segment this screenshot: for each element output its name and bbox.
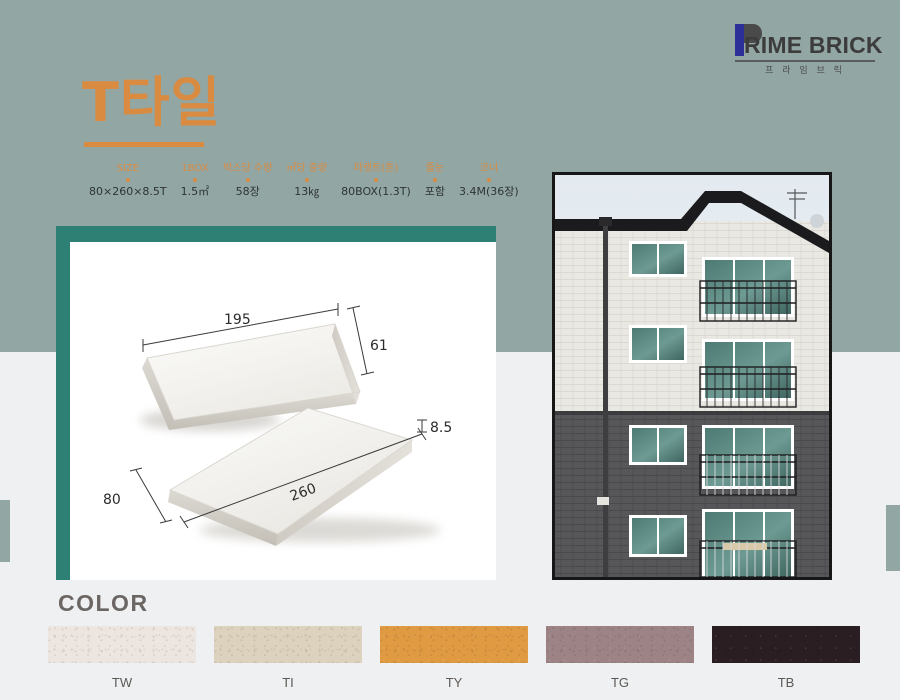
spec-label: ㎡당 중량 xyxy=(286,163,327,175)
spec-strip: SIZE80×260×8.5T1BOX1.5㎡박스당 수량58장㎡당 중량13㎏… xyxy=(82,163,526,198)
logo-mark: RIME BRICK xyxy=(735,22,875,56)
color-swatch-label: TB xyxy=(778,675,795,690)
spec-item: 파렛트(톤)80BOX(1.3T) xyxy=(334,163,418,198)
spec-bullet-icon xyxy=(487,178,491,182)
spec-value: 1.5㎡ xyxy=(181,185,210,198)
brochure-page: RIME BRICK 프 라 임 브 릭 T타일 SIZE80×260×8.5T… xyxy=(0,0,900,700)
color-swatch[interactable]: TY xyxy=(380,626,528,690)
logo-blue-bar-icon xyxy=(735,24,744,56)
color-swatch-chip[interactable] xyxy=(48,626,196,663)
spec-value: 80BOX(1.3T) xyxy=(341,185,411,198)
spec-item: 1BOX1.5㎡ xyxy=(174,163,217,198)
brand-logo: RIME BRICK 프 라 임 브 릭 xyxy=(735,22,875,74)
dim-label-80: 80 xyxy=(103,492,121,508)
dim-label-195: 195 xyxy=(224,312,251,328)
spec-bullet-icon xyxy=(374,178,378,182)
color-swatch[interactable]: TG xyxy=(546,626,694,690)
product-panel: 195 61 8.5 260 80 xyxy=(56,226,496,580)
product-image-area: 195 61 8.5 260 80 xyxy=(70,242,496,580)
color-swatch-chip[interactable] xyxy=(712,626,860,663)
color-swatch-chip[interactable] xyxy=(214,626,362,663)
spec-bullet-icon xyxy=(433,178,437,182)
spec-label: 파렛트(톤) xyxy=(354,163,399,175)
color-swatch[interactable]: TI xyxy=(214,626,362,690)
right-edge-tab xyxy=(886,505,900,571)
spec-bullet-icon xyxy=(305,178,309,182)
logo-underline xyxy=(735,60,875,62)
spec-item: 박스당 수량58장 xyxy=(216,163,279,198)
dim-label-61: 61 xyxy=(370,338,388,354)
brand-wordmark: RIME BRICK xyxy=(744,34,883,57)
dim-label-8_5: 8.5 xyxy=(430,420,452,436)
spec-item: ㎡당 중량13㎏ xyxy=(279,163,334,198)
left-edge-tab xyxy=(0,500,10,562)
application-photo xyxy=(552,172,832,580)
color-swatch-label: TW xyxy=(112,675,132,690)
spec-label: SIZE xyxy=(117,163,139,175)
spec-bullet-icon xyxy=(193,178,197,182)
brand-subtitle: 프 라 임 브 릭 xyxy=(735,63,875,76)
spec-bullet-icon xyxy=(126,178,130,182)
color-swatch[interactable]: TB xyxy=(712,626,860,690)
spec-label: 1BOX xyxy=(181,163,208,175)
spec-item: SIZE80×260×8.5T xyxy=(82,163,174,198)
color-swatch-label: TG xyxy=(611,675,629,690)
spec-item: 줄눈포함 xyxy=(418,163,452,198)
building-illustration xyxy=(555,175,829,577)
spec-label: 줄눈 xyxy=(426,163,444,175)
color-swatch-row: TWTITYTGTB xyxy=(48,626,860,690)
color-swatch-chip[interactable] xyxy=(380,626,528,663)
spec-value: 58장 xyxy=(236,185,260,198)
title-underline xyxy=(84,142,204,147)
color-section-heading: COLOR xyxy=(58,590,149,617)
color-swatch-label: TI xyxy=(282,675,294,690)
page-title: T타일 xyxy=(82,74,221,132)
spec-label: 코너 xyxy=(480,163,498,175)
spec-label: 박스당 수량 xyxy=(223,163,272,175)
color-swatch-label: TY xyxy=(446,675,463,690)
color-swatch[interactable]: TW xyxy=(48,626,196,690)
spec-value: 80×260×8.5T xyxy=(89,185,167,198)
product-diagram: 195 61 8.5 260 80 xyxy=(70,242,496,580)
spec-item: 코너3.4M(36장) xyxy=(452,163,526,198)
spec-value: 3.4M(36장) xyxy=(459,185,519,198)
spec-bullet-icon xyxy=(246,178,250,182)
spec-value: 13㎏ xyxy=(294,185,319,198)
color-swatch-chip[interactable] xyxy=(546,626,694,663)
spec-value: 포함 xyxy=(425,185,445,198)
